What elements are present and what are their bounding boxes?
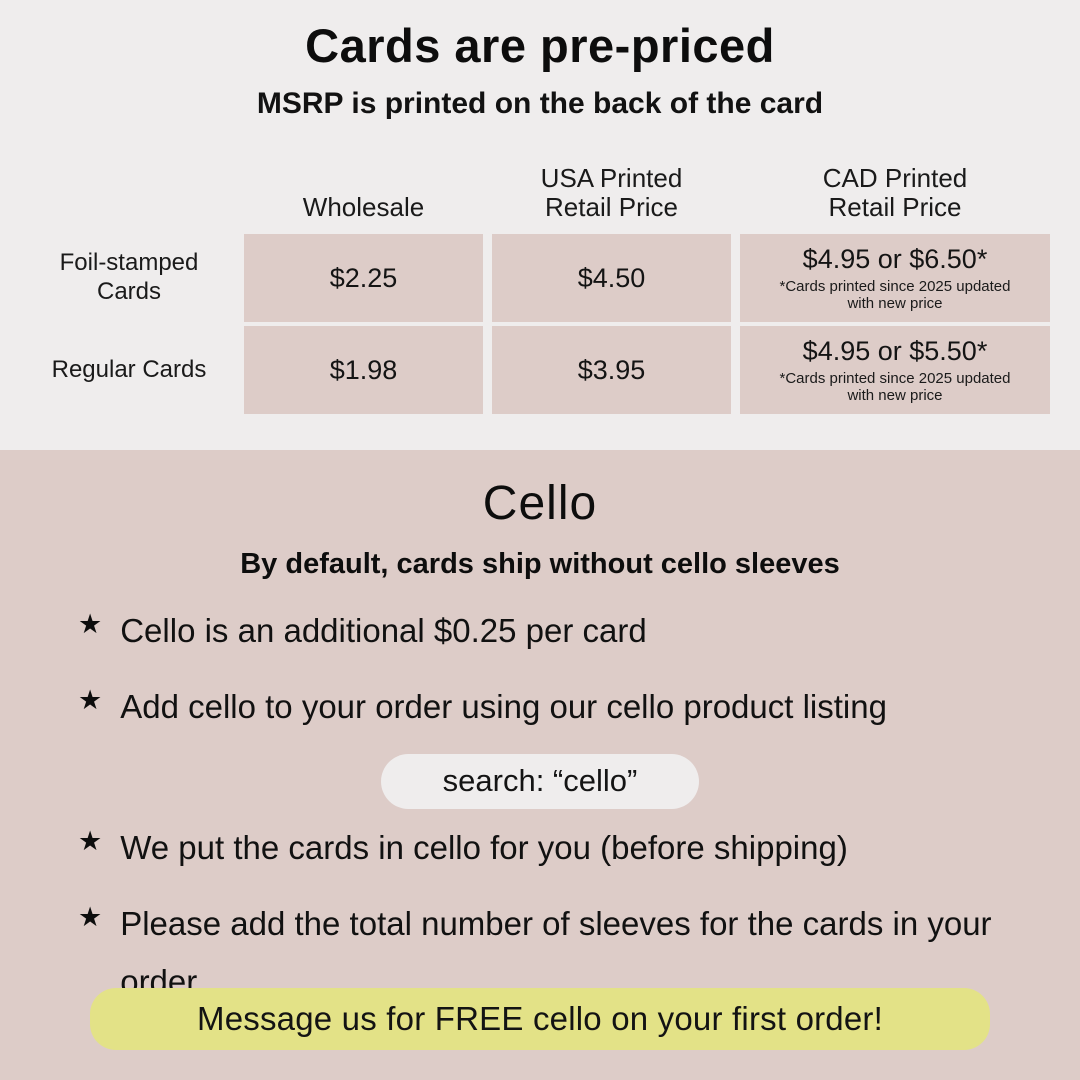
- table-corner-cell: [23, 164, 235, 230]
- pricing-table: Wholesale USA Printed Retail Price CAD P…: [14, 160, 1059, 418]
- list-item-label: We put the cards in cello for you (befor…: [120, 819, 848, 877]
- cell-value: $2.25: [250, 263, 477, 294]
- list-item-label: Cello is an additional $0.25 per card: [120, 602, 647, 660]
- row-label-line1: Regular Cards: [23, 356, 235, 385]
- cell-foil-usa-retail: $4.50: [492, 234, 731, 322]
- column-header-usa-retail-line1: USA Printed: [492, 164, 731, 193]
- promo-graphic: Cards are pre-priced MSRP is printed on …: [0, 0, 1080, 1080]
- cell-value: $4.95 or $6.50*: [746, 244, 1044, 275]
- column-header-wholesale: Wholesale: [244, 164, 483, 230]
- search-hint-row: search: “cello”: [0, 754, 1080, 809]
- list-item: ★ Cello is an additional $0.25 per card: [0, 602, 1080, 660]
- cta-banner[interactable]: Message us for FREE cello on your first …: [90, 988, 990, 1050]
- cell-value: $4.95 or $5.50*: [746, 336, 1044, 367]
- page-subtitle: MSRP is printed on the back of the card: [0, 69, 1080, 119]
- table-row: Foil-stamped Cards $2.25 $4.50 $4.95 or …: [23, 234, 1050, 322]
- column-header-cad-retail-line2: Retail Price: [740, 193, 1050, 222]
- page-title: Cards are pre-priced: [0, 0, 1080, 69]
- column-header-wholesale-line1: Wholesale: [244, 193, 483, 222]
- column-header-usa-retail-line2: Retail Price: [492, 193, 731, 222]
- star-icon: ★: [78, 678, 102, 722]
- list-item-label: Add cello to your order using our cello …: [120, 678, 887, 736]
- list-item: ★ Add cello to your order using our cell…: [0, 678, 1080, 736]
- pricing-section: Cards are pre-priced MSRP is printed on …: [0, 0, 1080, 450]
- column-header-cad-retail: CAD Printed Retail Price: [740, 164, 1050, 230]
- table-header-row: Wholesale USA Printed Retail Price CAD P…: [23, 164, 1050, 230]
- row-label-foil-stamped-cards: Foil-stamped Cards: [23, 234, 235, 322]
- cell-footnote-line2: with new price: [746, 295, 1044, 312]
- star-icon: ★: [78, 602, 102, 646]
- cello-title: Cello: [0, 450, 1080, 528]
- cell-foil-wholesale: $2.25: [244, 234, 483, 322]
- cell-regular-usa-retail: $3.95: [492, 326, 731, 414]
- cello-section: Cello By default, cards ship without cel…: [0, 450, 1080, 1080]
- cell-value: $4.50: [498, 263, 725, 294]
- cell-value: $3.95: [498, 355, 725, 386]
- pricing-table-wrapper: Wholesale USA Printed Retail Price CAD P…: [0, 160, 1080, 418]
- cta-wrapper: Message us for FREE cello on your first …: [0, 988, 1080, 1080]
- cell-foil-cad-retail: $4.95 or $6.50* *Cards printed since 202…: [740, 234, 1050, 322]
- cello-bullet-list: ★ Cello is an additional $0.25 per card …: [0, 602, 1080, 1029]
- cell-regular-cad-retail: $4.95 or $5.50* *Cards printed since 202…: [740, 326, 1050, 414]
- row-label-line2: Cards: [23, 278, 235, 307]
- cell-footnote-line2: with new price: [746, 387, 1044, 404]
- row-label-line1: Foil-stamped: [23, 249, 235, 278]
- star-icon: ★: [78, 819, 102, 863]
- cell-footnote-line1: *Cards printed since 2025 updated: [746, 278, 1044, 295]
- row-label-regular-cards: Regular Cards: [23, 326, 235, 414]
- cell-regular-wholesale: $1.98: [244, 326, 483, 414]
- search-hint-pill[interactable]: search: “cello”: [381, 754, 700, 809]
- cello-subtitle: By default, cards ship without cello sle…: [0, 528, 1080, 579]
- column-header-cad-retail-line1: CAD Printed: [740, 164, 1050, 193]
- table-row: Regular Cards $1.98 $3.95 $4.95 or $5.50…: [23, 326, 1050, 414]
- star-icon: ★: [78, 895, 102, 939]
- cell-footnote-line1: *Cards printed since 2025 updated: [746, 370, 1044, 387]
- list-item: ★ We put the cards in cello for you (bef…: [0, 819, 1080, 877]
- cell-value: $1.98: [250, 355, 477, 386]
- column-header-usa-retail: USA Printed Retail Price: [492, 164, 731, 230]
